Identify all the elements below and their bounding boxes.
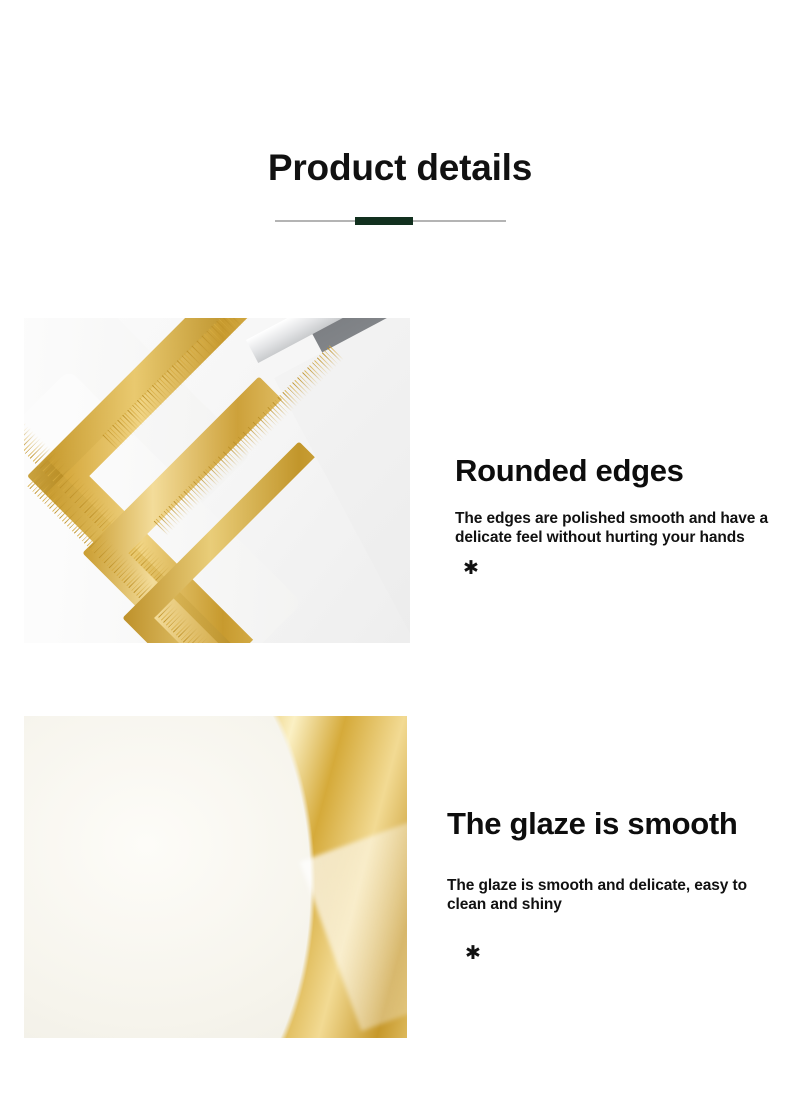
asterisk-icon: ✱ (465, 944, 787, 964)
product-photo-rounded-edges (24, 318, 410, 643)
feature-text-glaze-smooth: The glaze is smooth The glaze is smooth … (447, 805, 787, 964)
feature-heading: The glaze is smooth (447, 805, 787, 843)
divider-accent-bar (355, 217, 413, 225)
feature-body-text: The edges are polished smooth and have a… (455, 510, 785, 547)
title-divider (275, 216, 506, 226)
feature-text-rounded-edges: Rounded edges The edges are polished smo… (455, 452, 785, 579)
page-title: Product details (0, 146, 800, 190)
feature-heading: Rounded edges (455, 452, 785, 490)
product-photo-glaze-smooth (24, 716, 407, 1038)
feature-body-text: The glaze is smooth and delicate, easy t… (447, 877, 787, 914)
asterisk-icon: ✱ (463, 559, 785, 579)
